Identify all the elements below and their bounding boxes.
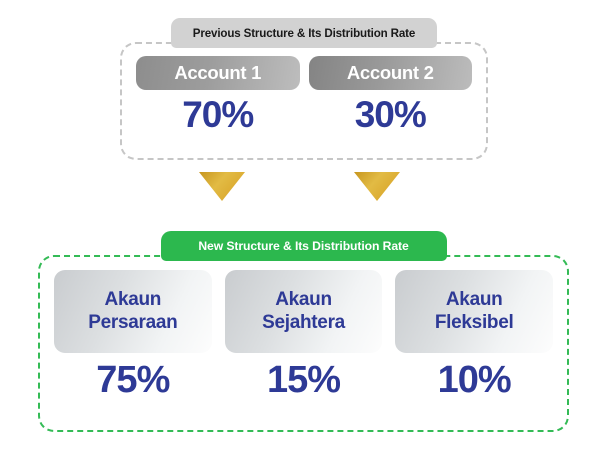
account-1-rate: 70%	[182, 96, 253, 135]
akaun-sejahtera-label: Akaun Sejahtera	[262, 289, 345, 334]
previous-structure-container: Account 1 70% Account 2 30%	[120, 42, 488, 160]
previous-structure-badge-label: Previous Structure & Its Distribution Ra…	[193, 27, 415, 40]
down-arrow-icon-1	[199, 172, 245, 201]
new-account-column-2: Akaun Sejahtera 15%	[225, 270, 383, 401]
akaun-persaraan-label: Akaun Persaraan	[88, 289, 177, 334]
akaun-sejahtera-rate: 15%	[267, 361, 340, 401]
akaun-persaraan-card[interactable]: Akaun Persaraan	[54, 270, 212, 353]
akaun-fleksibel-label: Akaun Fleksibel	[435, 289, 514, 334]
new-structure-section: New Structure & Its Distribution Rate Ak…	[38, 231, 569, 432]
account-1-label: Account 1	[174, 62, 261, 84]
new-account-column-1: Akaun Persaraan 75%	[54, 270, 212, 401]
account-2-label: Account 2	[347, 62, 434, 84]
previous-account-column-2: Account 2 30%	[309, 56, 473, 148]
new-structure-badge: New Structure & Its Distribution Rate	[161, 231, 447, 261]
previous-account-column-1: Account 1 70%	[136, 56, 300, 148]
previous-structure-badge: Previous Structure & Its Distribution Ra…	[171, 18, 437, 48]
new-account-column-3: Akaun Fleksibel 10%	[395, 270, 553, 401]
new-structure-container: Akaun Persaraan 75% Akaun Sejahtera 15% …	[38, 255, 569, 432]
account-2-pill[interactable]: Account 2	[309, 56, 473, 90]
akaun-fleksibel-rate: 10%	[438, 361, 511, 401]
new-account-cards-row: Akaun Persaraan 75% Akaun Sejahtera 15% …	[54, 270, 553, 401]
new-structure-badge-label: New Structure & Its Distribution Rate	[198, 239, 408, 253]
akaun-fleksibel-card[interactable]: Akaun Fleksibel	[395, 270, 553, 353]
down-arrow-icon-2	[354, 172, 400, 201]
distribution-rate-infographic: Previous Structure & Its Distribution Ra…	[0, 0, 607, 462]
previous-structure-section: Previous Structure & Its Distribution Ra…	[120, 18, 488, 160]
account-1-pill[interactable]: Account 1	[136, 56, 300, 90]
akaun-persaraan-rate: 75%	[96, 361, 169, 401]
account-2-rate: 30%	[355, 96, 426, 135]
akaun-sejahtera-card[interactable]: Akaun Sejahtera	[225, 270, 383, 353]
